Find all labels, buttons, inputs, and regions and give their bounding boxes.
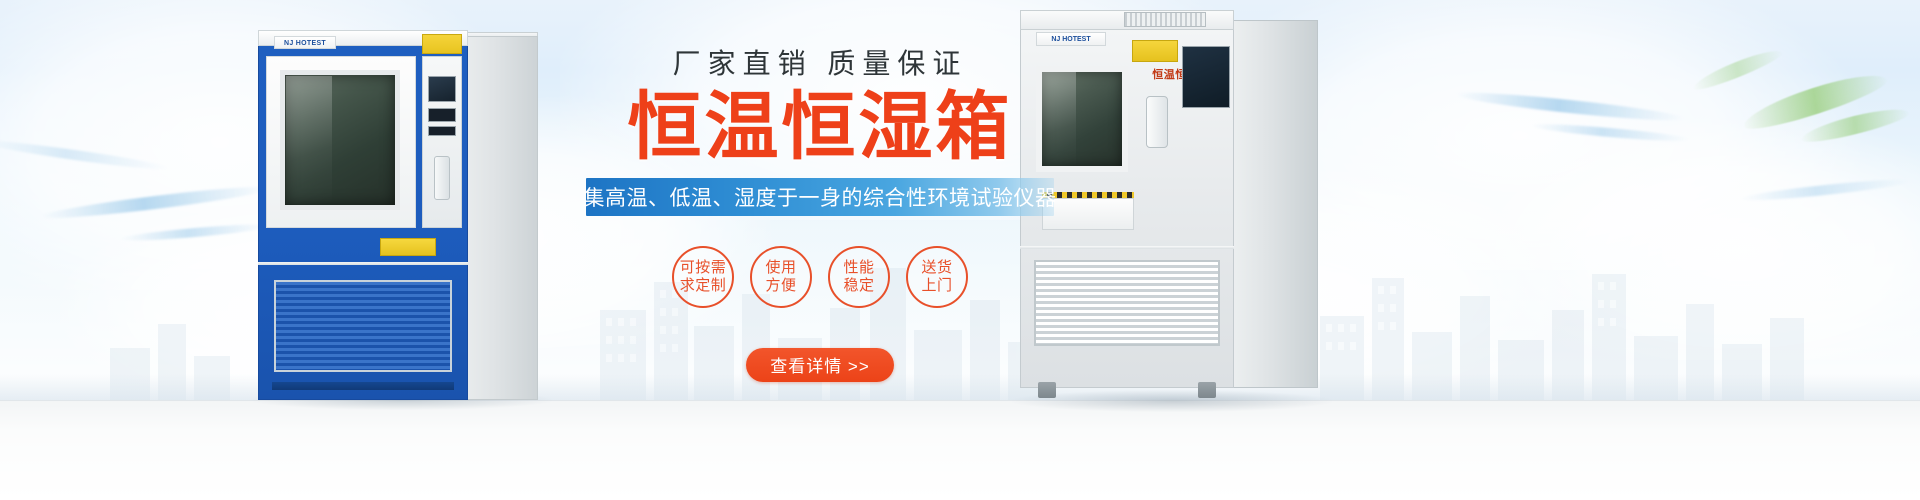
chamber-side-panel [464, 36, 538, 400]
feature-badge-line1: 性能 [843, 259, 874, 277]
chamber-divider [258, 262, 468, 265]
feature-badge-custom[interactable]: 可按需 求定制 [672, 246, 734, 308]
chamber-vent-grille [274, 280, 452, 372]
feature-badge-line2: 求定制 [680, 277, 727, 295]
feature-badge-line2: 上门 [921, 277, 952, 295]
blue-wisp-decoration [1740, 176, 1910, 204]
blue-wisp-decoration [40, 182, 270, 223]
chamber-viewing-window [280, 70, 400, 210]
feature-badge-line1: 送货 [921, 259, 952, 277]
feature-badge-line2: 稳定 [843, 277, 874, 295]
blue-wisp-decoration [1530, 121, 1690, 144]
feature-badge-stable[interactable]: 性能 稳定 [828, 246, 890, 308]
feature-badge-list: 可按需 求定制 使用 方便 性能 稳定 送货 上门 [570, 246, 1070, 308]
controller-screen [428, 76, 456, 102]
green-leaf-decoration [1740, 65, 1891, 136]
banner-copy-block: 厂家直销 质量保证 恒温恒湿箱 集高温、低温、湿度于一身的综合性环境试验仪器 可… [570, 36, 1070, 456]
controller-led-display [428, 126, 456, 136]
feature-badge-line2: 方便 [765, 277, 796, 295]
chamber-foot [1198, 382, 1216, 398]
product-image-left-chamber: NJ HOTEST [258, 30, 538, 402]
banner-subtitle: 集高温、低温、湿度于一身的综合性环境试验仪器 [584, 182, 1057, 212]
warning-label-icon [1132, 40, 1178, 62]
chamber-door-handle [434, 156, 450, 200]
blue-wisp-decoration [120, 221, 270, 243]
feature-badge-line1: 可按需 [680, 259, 727, 277]
chamber-brand-label: NJ HOTEST [274, 36, 336, 49]
banner-headline: 恒温恒湿箱 [570, 89, 1070, 166]
feature-badge-easy-use[interactable]: 使用 方便 [750, 246, 812, 308]
feature-badge-line1: 使用 [765, 259, 796, 277]
blue-wisp-decoration [0, 137, 170, 173]
view-details-button[interactable]: 查看详情 >> [746, 348, 894, 382]
chamber-top-vent [1124, 12, 1206, 27]
warning-label-icon [380, 238, 436, 256]
chamber-base [272, 382, 454, 390]
banner-subtitle-bar: 集高温、低温、湿度于一身的综合性环境试验仪器 [586, 178, 1054, 216]
feature-badge-delivery[interactable]: 送货 上门 [906, 246, 968, 308]
blue-wisp-decoration [1455, 88, 1685, 125]
banner-tagline: 厂家直销 质量保证 [570, 50, 1070, 78]
green-leaf-decoration [1691, 45, 1785, 94]
warning-label-icon [422, 34, 462, 54]
cloud-decoration [1480, 120, 1920, 360]
cta-container: 查看详情 >> [570, 348, 1070, 382]
controller-led-display [428, 108, 456, 122]
green-leaf-decoration [1799, 103, 1910, 147]
promo-banner: NJ HOTEST NJ HOTEST 恒温恒湿箱 [0, 0, 1920, 500]
controller-screen [1182, 46, 1230, 108]
chamber-side-panel [1232, 20, 1318, 388]
chamber-door-handle [1146, 96, 1168, 148]
